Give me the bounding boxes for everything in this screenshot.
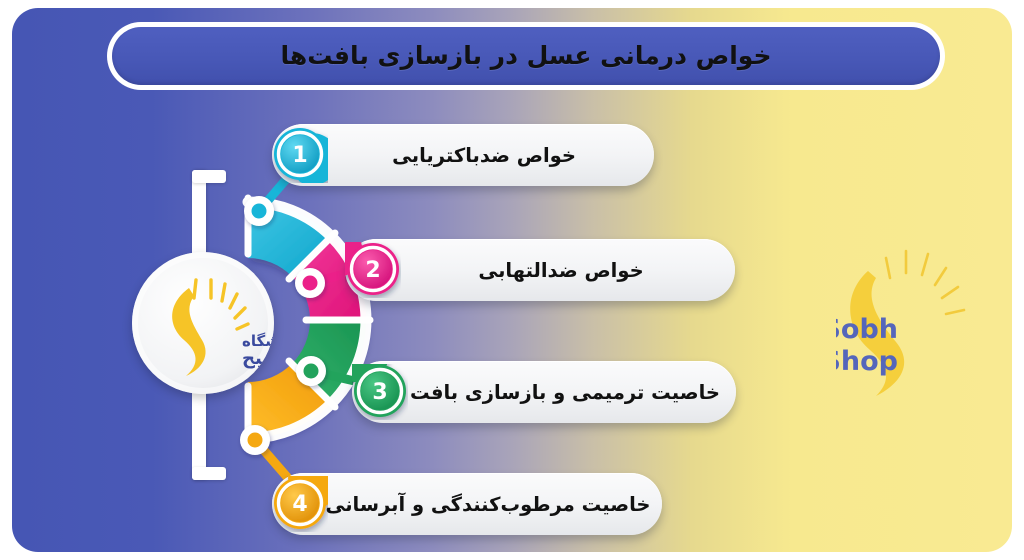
watermark-logo: Sobh. Shop bbox=[836, 248, 1004, 408]
item-badge-3[interactable]: 3 bbox=[352, 364, 408, 420]
watermark-line1: Sobh. bbox=[836, 314, 898, 345]
item-pill-1[interactable]: خواص ضدباکتریایی bbox=[272, 124, 654, 186]
item-label-4: خاصیت مرطوب‌کنندگی و آبرسانی bbox=[326, 493, 651, 516]
list-item: خواص ضدباکتریایی 1 bbox=[272, 124, 654, 186]
bracket-top-arm bbox=[192, 170, 226, 183]
title-container: خواص درمانی عسل در بازسازی بافت‌ها bbox=[107, 22, 945, 90]
item-number-1: 1 bbox=[292, 143, 307, 168]
item-label-3: خاصیت ترمیمی و بازسازی بافت bbox=[410, 381, 720, 404]
swoosh-icon bbox=[172, 288, 205, 376]
item-number-3: 3 bbox=[372, 380, 387, 405]
list-item: خاصیت مرطوب‌کنندگی و آبرسانی bbox=[272, 473, 662, 535]
item-label-1: خواص ضدباکتریایی bbox=[392, 144, 576, 167]
list-item: خاصیت ترمیمی و بازسازی بافت bbox=[352, 361, 736, 423]
item-badge-4[interactable]: 4 bbox=[272, 476, 328, 532]
item-pill-2[interactable]: خواص ضدالتهابی bbox=[345, 239, 735, 301]
bracket-bottom-arm bbox=[192, 467, 226, 480]
watermark-line2: Shop bbox=[836, 346, 898, 377]
list-item: خواص ضدالتهابی 2 bbox=[345, 239, 735, 301]
center-logo-disc: فروشگاه صبح bbox=[132, 252, 274, 394]
item-badge-2[interactable]: 2 bbox=[345, 242, 401, 298]
infographic-poster: خواص درمانی عسل در بازسازی بافت‌ها bbox=[0, 0, 1024, 560]
item-number-2: 2 bbox=[365, 258, 380, 283]
page-title: خواص درمانی عسل در بازسازی بافت‌ها bbox=[281, 41, 772, 71]
item-badge-1[interactable]: 1 bbox=[272, 127, 328, 183]
center-logo-line2: صبح bbox=[242, 348, 274, 369]
item-pill-4[interactable]: خاصیت مرطوب‌کنندگی و آبرسانی bbox=[272, 473, 662, 535]
sun-rays-icon bbox=[194, 280, 248, 329]
watermark-sun-rays-icon bbox=[886, 251, 964, 314]
title-bar: خواص درمانی عسل در بازسازی بافت‌ها bbox=[112, 27, 940, 85]
item-number-4: 4 bbox=[292, 492, 307, 517]
item-pill-3[interactable]: خاصیت ترمیمی و بازسازی بافت bbox=[352, 361, 736, 423]
item-label-2: خواص ضدالتهابی bbox=[478, 259, 643, 282]
